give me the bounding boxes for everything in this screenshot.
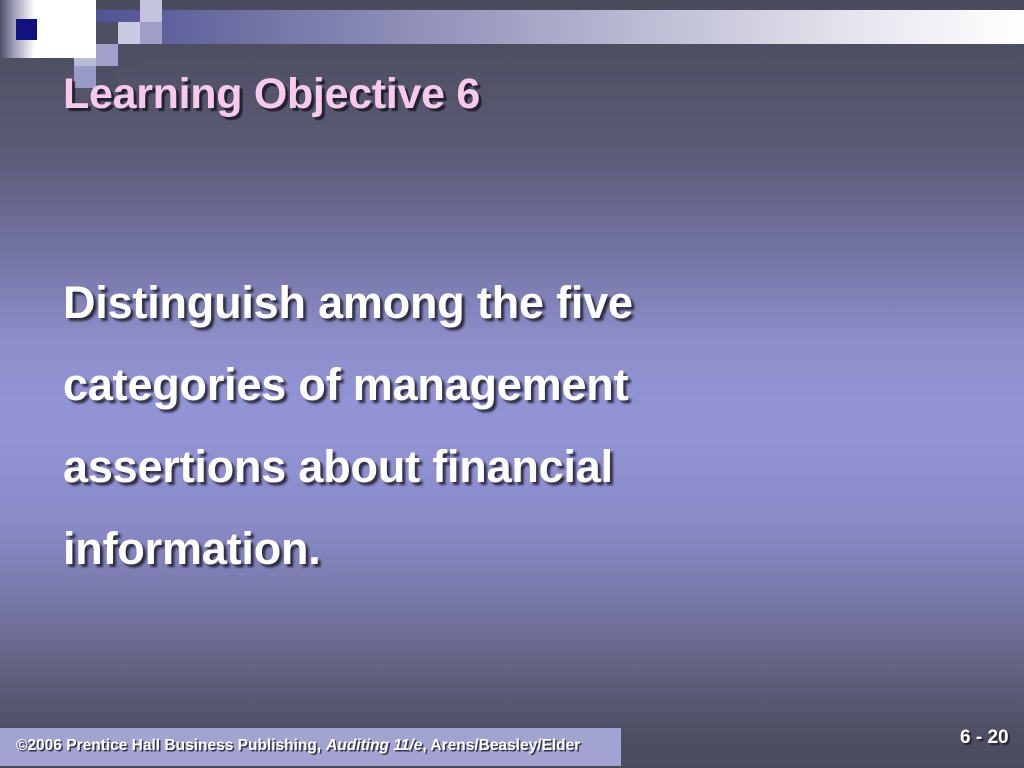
pale-square-low2 [96,44,118,66]
body-line: assertions about financial [63,426,853,508]
page-number: 6 - 20 [960,727,1009,749]
dark-square-c [118,44,140,66]
body-line: Distinguish among the five [63,262,853,344]
gradient-band [18,10,1024,44]
footer-copyright: ©2006 Prentice Hall Business Publishing, [16,737,321,754]
page-title: Learning Objective 6 [63,70,480,119]
pale-square-top [140,0,162,22]
presentation-slide: Learning Objective 6 Distinguish among t… [0,0,1024,768]
body-line: categories of management [63,344,853,426]
pale-square-mid [118,22,140,44]
slide-body: Distinguish among the five categories of… [63,262,853,590]
dark-square-b [96,22,118,44]
body-line: information. [63,508,853,590]
footer-book-title: Auditing 11/e [326,737,422,754]
white-fade-panel [0,0,96,58]
navy-square [16,19,37,40]
footer-credit: ©2006 Prentice Hall Business Publishing,… [16,737,580,755]
slide-header-decoration [0,0,1024,58]
pale-square-mid2 [140,22,162,44]
footer-authors: , Arens/Beasley/Elder [422,737,580,754]
